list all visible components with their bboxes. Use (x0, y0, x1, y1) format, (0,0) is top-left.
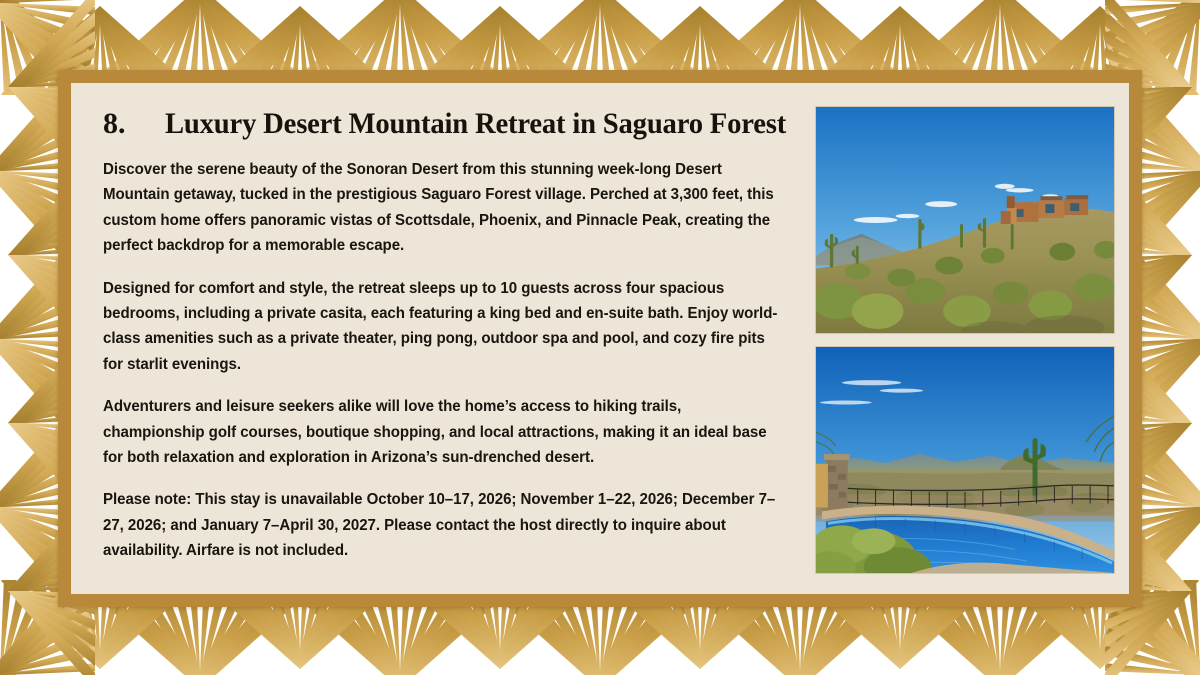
desert-hillside-home-photo (815, 106, 1115, 334)
listing-availability-note: Please note: This stay is unavailable Oc… (103, 487, 787, 563)
listing-number: 8. (103, 107, 165, 141)
listing-paragraph-1: Discover the serene beauty of the Sonora… (103, 157, 787, 259)
listing-paragraph-3: Adventurers and leisure seekers alike wi… (103, 394, 787, 470)
slide-canvas: 8. Luxury Desert Mountain Retreat in Sag… (0, 0, 1200, 675)
pool-desert-vista-photo (815, 346, 1115, 574)
listing-paragraph-2: Designed for comfort and style, the retr… (103, 276, 787, 378)
listing-photo-column (815, 106, 1117, 574)
listing-title: Luxury Desert Mountain Retreat in Saguar… (165, 107, 786, 141)
listing-title-row: 8. Luxury Desert Mountain Retreat in Sag… (103, 107, 797, 141)
listing-card-inner: 8. Luxury Desert Mountain Retreat in Sag… (71, 83, 1129, 594)
listing-card: 8. Luxury Desert Mountain Retreat in Sag… (58, 70, 1142, 607)
listing-text-column: 8. Luxury Desert Mountain Retreat in Sag… (103, 107, 815, 564)
